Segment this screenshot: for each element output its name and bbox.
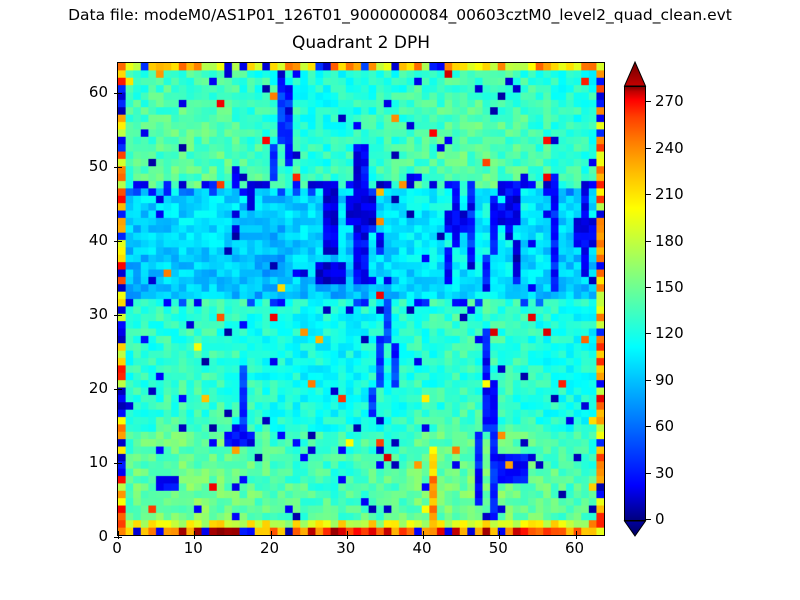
y-tick xyxy=(118,537,122,538)
heatmap-image xyxy=(118,63,604,535)
y-tick-label: 10 xyxy=(62,454,108,471)
colorbar-tick-label: 60 xyxy=(655,418,674,435)
x-tick xyxy=(576,531,577,535)
data-file-suptitle: Data file: modeM0/AS1P01_126T01_90000000… xyxy=(0,6,800,24)
x-tick xyxy=(271,531,272,535)
colorbar-gradient-bar xyxy=(624,86,646,521)
colorbar-tick xyxy=(646,426,651,427)
y-tick xyxy=(118,463,122,464)
colorbar-gradient xyxy=(625,87,645,520)
colorbar-tick xyxy=(646,380,651,381)
colorbar-tick-label: 30 xyxy=(655,465,674,482)
colorbar-tick xyxy=(646,101,651,102)
y-tick-label: 50 xyxy=(62,158,108,175)
plot-title: Quadrant 2 DPH xyxy=(117,33,605,53)
x-tick-label: 60 xyxy=(545,540,605,557)
colorbar-tick xyxy=(646,473,651,474)
y-tick xyxy=(118,241,122,242)
colorbar-tick xyxy=(646,241,651,242)
y-tick-label: 20 xyxy=(62,380,108,397)
y-tick xyxy=(118,315,122,316)
x-tick-label: 40 xyxy=(392,540,452,557)
x-tick-label: 20 xyxy=(240,540,300,557)
y-tick-label: 60 xyxy=(62,84,108,101)
colorbar-tick-label: 120 xyxy=(655,325,684,342)
x-tick-label: 10 xyxy=(163,540,223,557)
figure-canvas: Data file: modeM0/AS1P01_126T01_90000000… xyxy=(0,0,800,600)
colorbar-tick-label: 180 xyxy=(655,233,684,250)
colorbar-tick xyxy=(646,519,651,520)
x-tick-label: 30 xyxy=(316,540,376,557)
colorbar-tick xyxy=(646,194,651,195)
colorbar-tick-label: 210 xyxy=(655,186,684,203)
colorbar xyxy=(624,62,648,536)
x-tick xyxy=(499,531,500,535)
heatmap-axes xyxy=(117,62,605,536)
y-tick xyxy=(118,93,122,94)
colorbar-tick xyxy=(646,148,651,149)
x-tick xyxy=(194,531,195,535)
colorbar-tick-label: 270 xyxy=(655,93,684,110)
x-tick xyxy=(347,531,348,535)
colorbar-tick-label: 150 xyxy=(655,279,684,296)
y-tick xyxy=(118,389,122,390)
y-tick-label: 0 xyxy=(62,528,108,545)
y-tick-label: 30 xyxy=(62,306,108,323)
x-tick xyxy=(423,531,424,535)
colorbar-tick xyxy=(646,287,651,288)
y-tick-label: 40 xyxy=(62,232,108,249)
x-tick-label: 50 xyxy=(468,540,528,557)
colorbar-tick-label: 90 xyxy=(655,372,674,389)
x-tick xyxy=(118,531,119,535)
y-tick xyxy=(118,167,122,168)
colorbar-tick-label: 0 xyxy=(655,511,665,528)
colorbar-tick-label: 240 xyxy=(655,140,684,157)
colorbar-tick xyxy=(646,333,651,334)
